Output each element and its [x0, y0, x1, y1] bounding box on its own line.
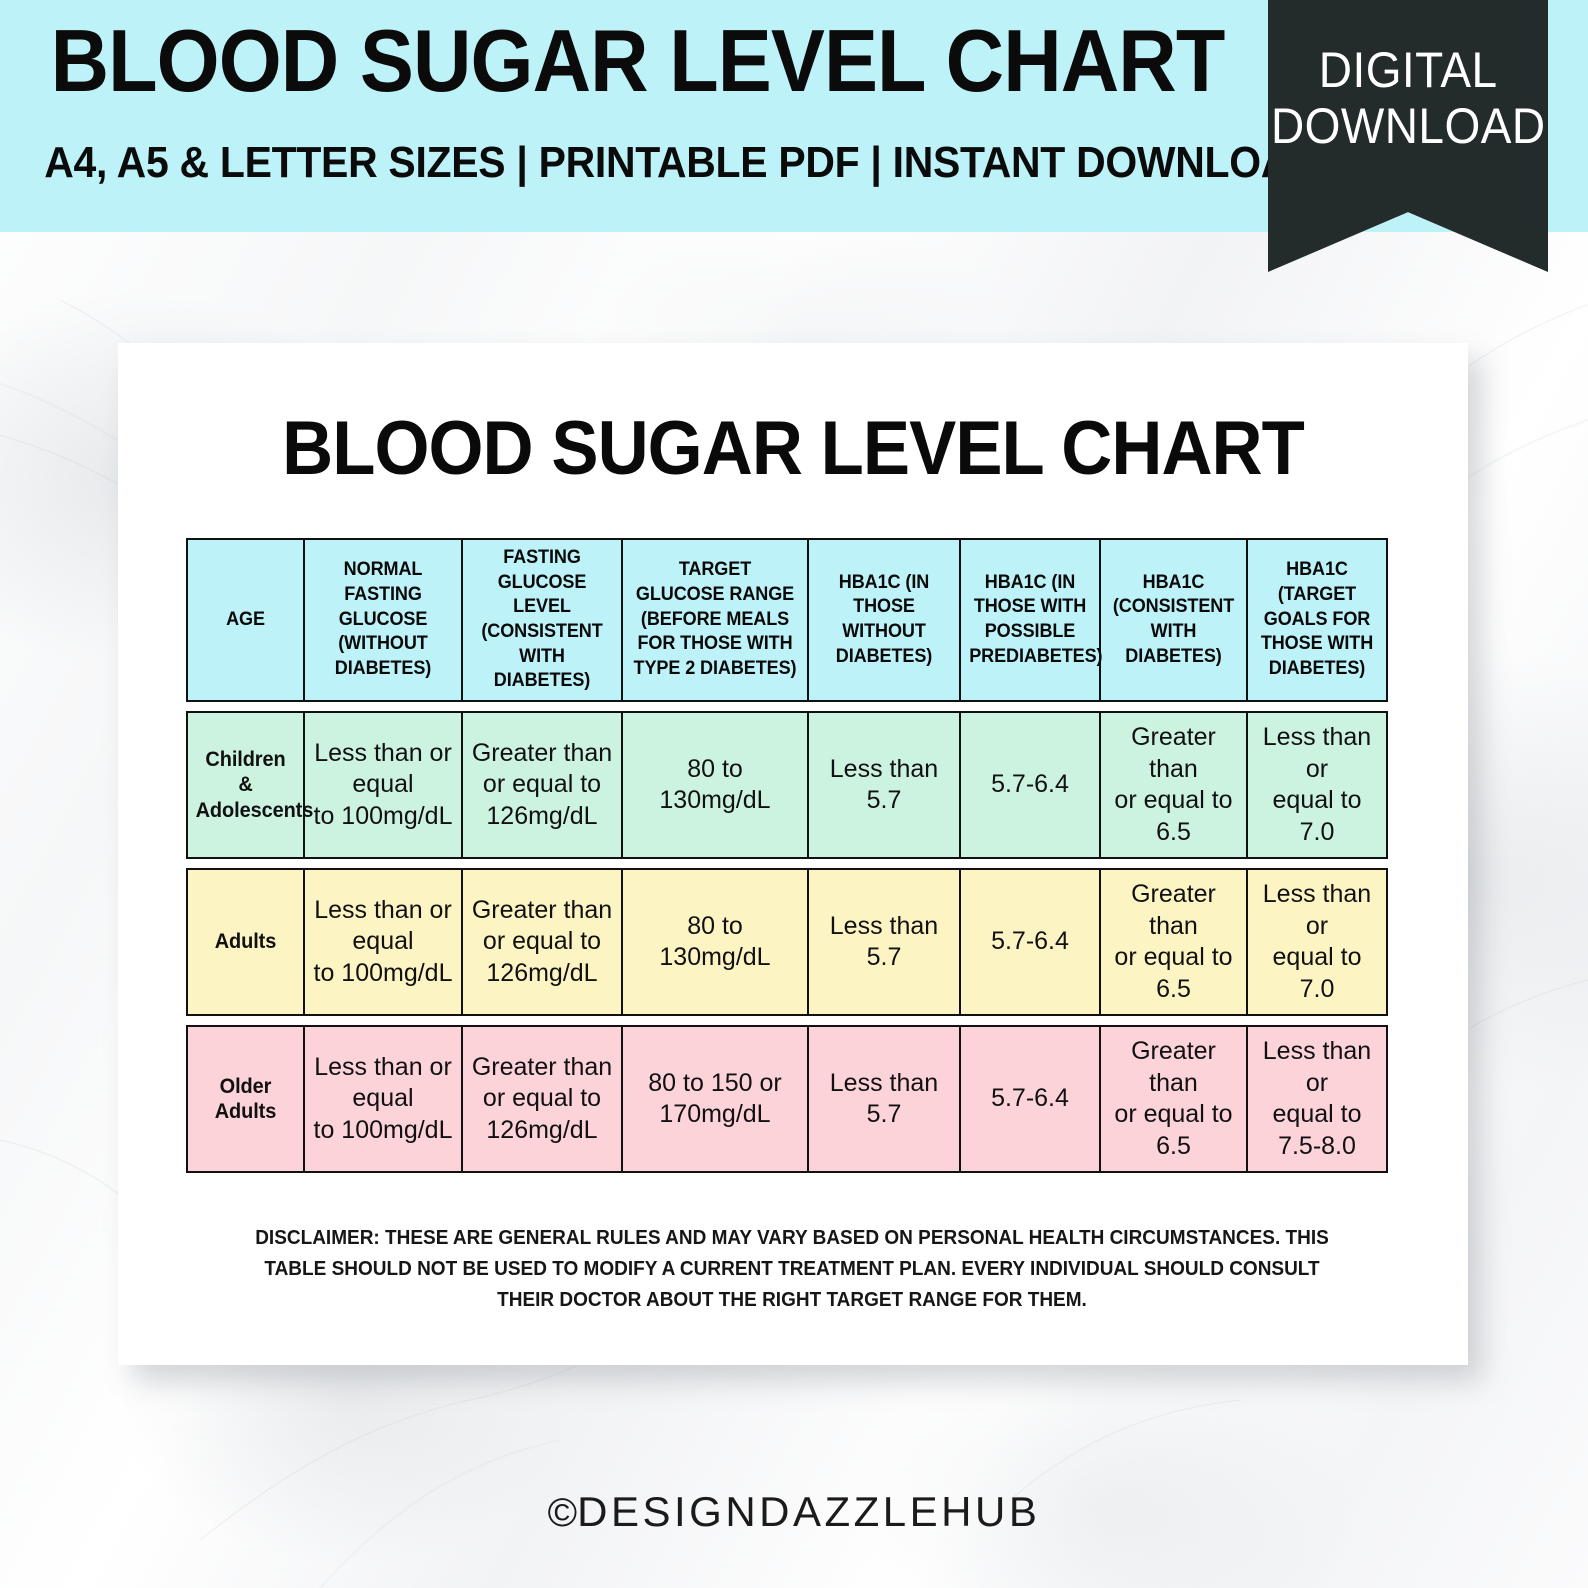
- column-header-label: AGE: [196, 608, 296, 633]
- column-header-normal-fasting-glucose: NORMAL FASTING GLUCOSE (WITHOUT DIABETES…: [304, 538, 462, 702]
- column-header-label: TARGET GLUCOSE RANGE (BEFORE MEALS FOR T…: [632, 558, 797, 681]
- column-header-label: HBA1C (IN THOSE WITHOUT DIABETES): [818, 571, 951, 670]
- cell-target-glucose-range: 80 to130mg/dL: [622, 711, 808, 859]
- cell-hba1c-consistent-diabetes: Greater thanor equal to 6.5: [1100, 711, 1247, 859]
- blood-sugar-table: AGE NORMAL FASTING GLUCOSE (WITHOUT DIAB…: [186, 529, 1388, 1182]
- cell-hba1c-prediabetes: 5.7-6.4: [960, 1025, 1100, 1173]
- brand-name: DESIGNDAZZLEHUB: [577, 1488, 1040, 1535]
- cell-age: Adults: [186, 868, 304, 1016]
- brand-footer: ©DESIGNDAZZLEHUB: [0, 1488, 1588, 1536]
- cell-hba1c-without-diabetes: Less than 5.7: [808, 711, 960, 859]
- banner-title: BLOOD SUGAR LEVEL CHART: [51, 16, 1215, 106]
- table-header-row: AGE NORMAL FASTING GLUCOSE (WITHOUT DIAB…: [186, 538, 1388, 702]
- cell-fasting-glucose-diabetes: Greater thanor equal to126mg/dL: [462, 711, 622, 859]
- column-header-target-glucose-range: TARGET GLUCOSE RANGE (BEFORE MEALS FOR T…: [622, 538, 808, 702]
- ribbon-line-1: DIGITAL: [1319, 42, 1498, 98]
- table-header: AGE NORMAL FASTING GLUCOSE (WITHOUT DIAB…: [186, 538, 1388, 702]
- cell-hba1c-without-diabetes: Less than 5.7: [808, 1025, 960, 1173]
- blood-sugar-table-wrapper: AGE NORMAL FASTING GLUCOSE (WITHOUT DIAB…: [186, 529, 1388, 1182]
- cell-fasting-glucose-diabetes: Greater thanor equal to126mg/dL: [462, 868, 622, 1016]
- column-header-fasting-glucose-diabetes: FASTING GLUCOSE LEVEL (CONSISTENT WITH D…: [462, 538, 622, 702]
- table-row: Children& Adolescents Less than or equal…: [186, 711, 1388, 859]
- cell-normal-fasting-glucose: Less than or equalto 100mg/dL: [304, 1025, 462, 1173]
- cell-normal-fasting-glucose: Less than or equalto 100mg/dL: [304, 711, 462, 859]
- cell-hba1c-prediabetes: 5.7-6.4: [960, 868, 1100, 1016]
- age-label: Adults: [196, 929, 296, 955]
- cell-target-glucose-range: 80 to130mg/dL: [622, 868, 808, 1016]
- column-header-label: FASTING GLUCOSE LEVEL (CONSISTENT WITH D…: [472, 546, 613, 694]
- column-header-hba1c-prediabetes: HBA1C (IN THOSE WITH POSSIBLE PREDIABETE…: [960, 538, 1100, 702]
- table-body: Children& Adolescents Less than or equal…: [186, 711, 1388, 1173]
- printable-sheet: BLOOD SUGAR LEVEL CHART AGE NORMAL FASTI…: [118, 343, 1468, 1365]
- column-header-label: HBA1C (IN THOSE WITH POSSIBLE PREDIABETE…: [969, 571, 1091, 670]
- cell-hba1c-target-goals: Less than orequal to 7.5-8.0: [1247, 1025, 1388, 1173]
- column-header-label: HBA1C (CONSISTENT WITH DIABETES): [1109, 571, 1237, 670]
- cell-hba1c-target-goals: Less than orequal to 7.0: [1247, 868, 1388, 1016]
- cell-hba1c-consistent-diabetes: Greater thanor equal to 6.5: [1100, 868, 1247, 1016]
- document-title: BLOOD SUGAR LEVEL CHART: [165, 405, 1421, 492]
- copyright-icon: ©: [548, 1491, 577, 1535]
- column-header-hba1c-without-diabetes: HBA1C (IN THOSE WITHOUT DIABETES): [808, 538, 960, 702]
- column-header-label: HBA1C (TARGET GOALS FOR THOSE WITH DIABE…: [1256, 558, 1378, 681]
- cell-age: Children& Adolescents: [186, 711, 304, 859]
- column-header-hba1c-consistent-diabetes: HBA1C (CONSISTENT WITH DIABETES): [1100, 538, 1247, 702]
- table-row: Older Adults Less than or equalto 100mg/…: [186, 1025, 1388, 1173]
- table-row: Adults Less than or equalto 100mg/dL Gre…: [186, 868, 1388, 1016]
- cell-age: Older Adults: [186, 1025, 304, 1173]
- column-header-label: NORMAL FASTING GLUCOSE (WITHOUT DIABETES…: [314, 558, 453, 681]
- age-label: Children& Adolescents: [196, 747, 296, 824]
- column-header-age: AGE: [186, 538, 304, 702]
- cell-hba1c-prediabetes: 5.7-6.4: [960, 711, 1100, 859]
- cell-fasting-glucose-diabetes: Greater thanor equal to126mg/dL: [462, 1025, 622, 1173]
- age-label: Older Adults: [196, 1074, 296, 1125]
- disclaimer-text: DISCLAIMER: THESE ARE GENERAL RULES AND …: [245, 1223, 1339, 1316]
- cell-hba1c-consistent-diabetes: Greater thanor equal to 6.5: [1100, 1025, 1247, 1173]
- cell-normal-fasting-glucose: Less than or equalto 100mg/dL: [304, 868, 462, 1016]
- cell-hba1c-without-diabetes: Less than 5.7: [808, 868, 960, 1016]
- page-background: BLOOD SUGAR LEVEL CHART A4, A5 & LETTER …: [0, 0, 1588, 1588]
- ribbon-line-2: DOWNLOAD: [1271, 98, 1546, 154]
- banner-subtitle: A4, A5 & LETTER SIZES | PRINTABLE PDF | …: [44, 140, 1220, 186]
- column-header-hba1c-target-goals: HBA1C (TARGET GOALS FOR THOSE WITH DIABE…: [1247, 538, 1388, 702]
- cell-target-glucose-range: 80 to 150 or170mg/dL: [622, 1025, 808, 1173]
- cell-hba1c-target-goals: Less than orequal to 7.0: [1247, 711, 1388, 859]
